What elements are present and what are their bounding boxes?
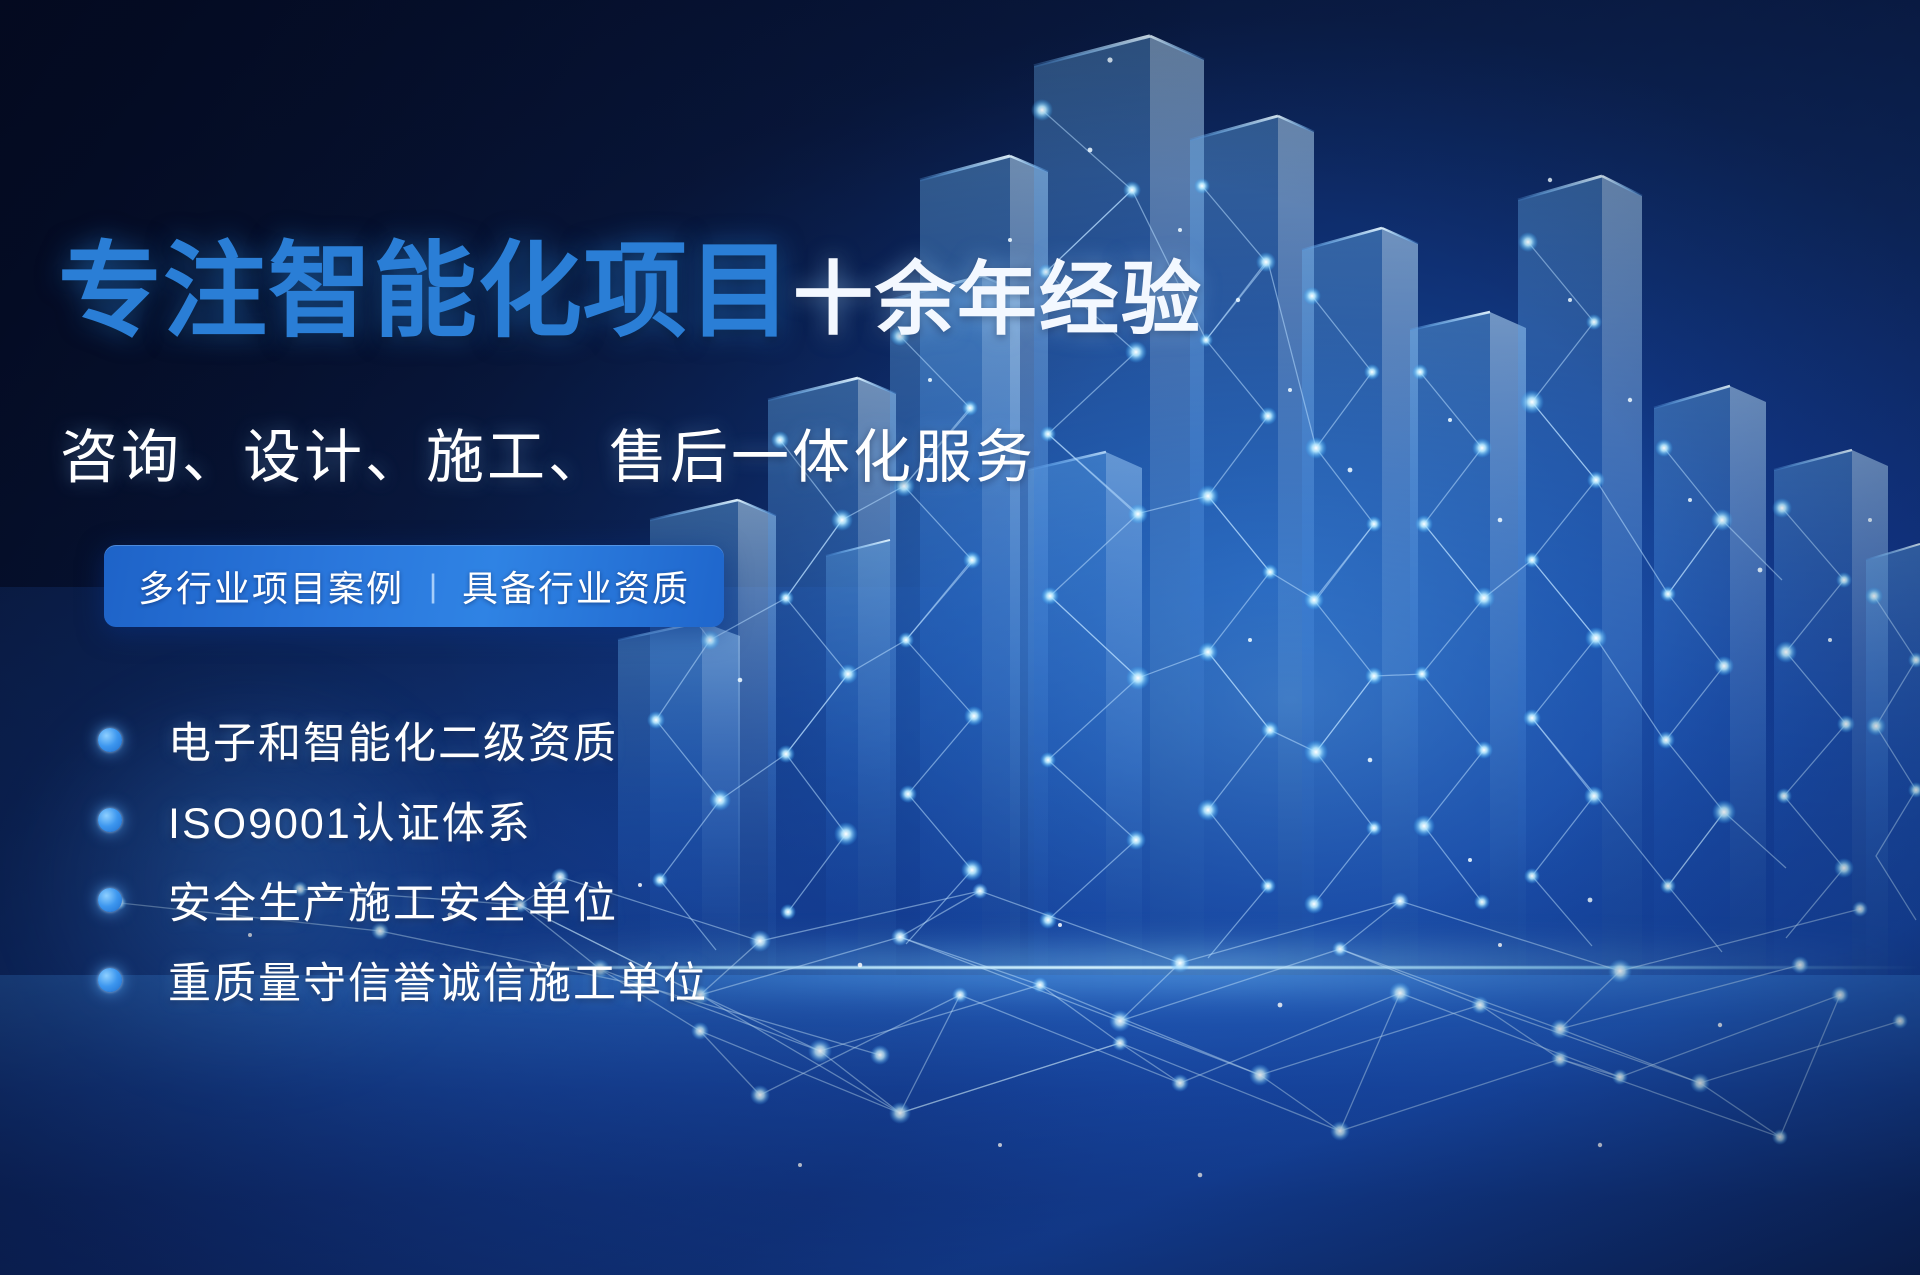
headline-primary: 专注智能化项目 — [58, 234, 793, 350]
list-item-label: 重质量守信誉诚信施工单位 — [168, 949, 708, 1011]
subtitle: 咨询、设计、施工、售后一体化服务 — [60, 410, 1036, 494]
list-item-label: 电子和智能化二级资质 — [168, 709, 618, 771]
list-item: 重质量守信誉诚信施工单位 — [98, 940, 708, 1020]
list-item: 电子和智能化二级资质 — [98, 700, 708, 780]
bullet-dot-icon — [98, 968, 122, 992]
bullet-dot-icon — [98, 808, 122, 832]
list-item-label: 安全生产施工安全单位 — [168, 869, 618, 931]
headline-accent: 十余年经验 — [793, 255, 1203, 344]
bullet-dot-icon — [98, 888, 122, 912]
list-item: ISO9001认证体系 — [98, 780, 708, 860]
badge-left-label: 多行业项目案例 — [138, 560, 404, 612]
banner-hero: 专注智能化项目十余年经验 咨询、设计、施工、售后一体化服务 多行业项目案例 | … — [0, 0, 1920, 1275]
badge-right-label: 具备行业资质 — [462, 560, 690, 612]
headline: 专注智能化项目十余年经验 — [58, 240, 1203, 344]
bullet-dot-icon — [98, 728, 122, 752]
banner-content: 专注智能化项目十余年经验 咨询、设计、施工、售后一体化服务 多行业项目案例 | … — [58, 0, 1118, 1275]
badge-separator: | — [404, 568, 462, 605]
qualification-badge[interactable]: 多行业项目案例 | 具备行业资质 — [104, 545, 724, 627]
list-item-label: ISO9001认证体系 — [168, 789, 532, 851]
list-item: 安全生产施工安全单位 — [98, 860, 708, 940]
credentials-list: 电子和智能化二级资质 ISO9001认证体系 安全生产施工安全单位 重质量守信誉… — [98, 700, 708, 1020]
